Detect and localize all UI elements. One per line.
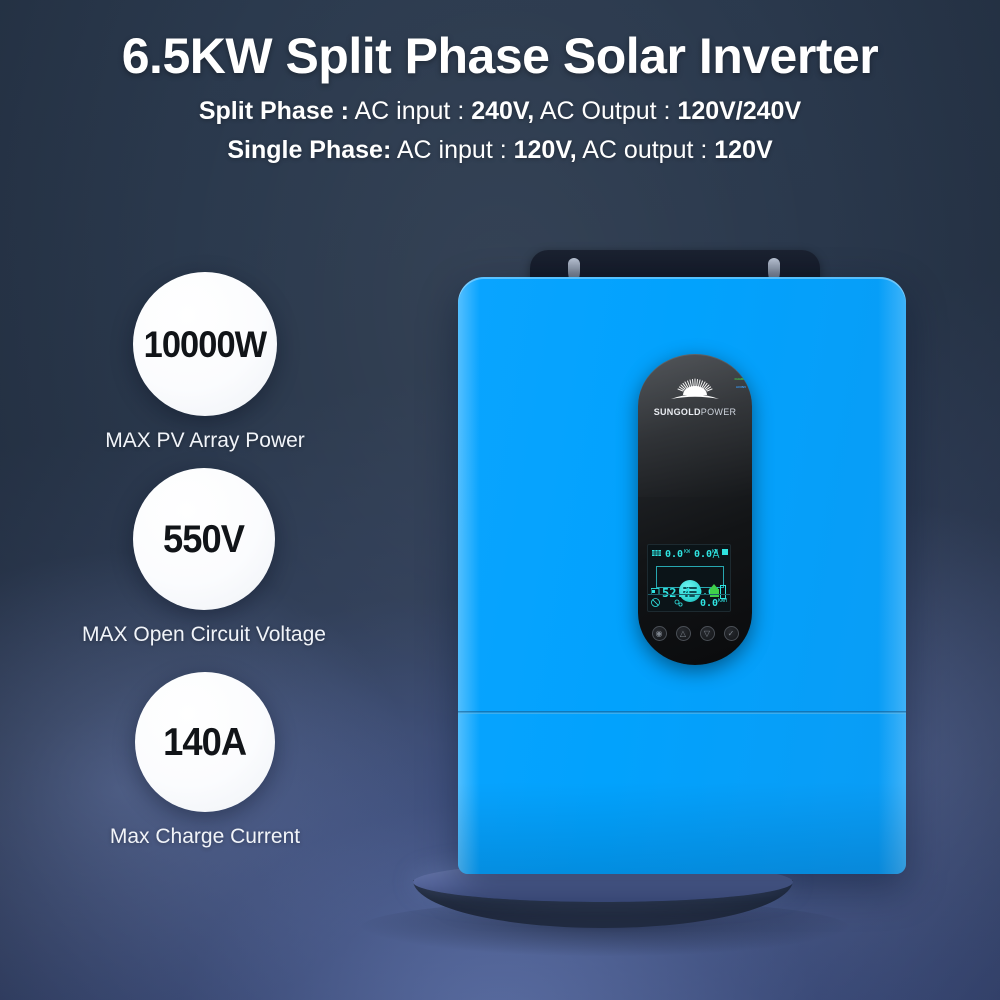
split-phase-output-value: 120V/240V	[677, 97, 801, 125]
feature-label: MAX PV Array Power	[50, 429, 360, 453]
brand-name-bold: SUNGOLD	[654, 407, 701, 417]
led-charge: CHARGE	[734, 377, 748, 382]
lcd-pv-power: 0.0	[665, 550, 683, 560]
feature-circle: 140A	[135, 672, 275, 812]
single-phase-output-value: 120V	[714, 136, 772, 164]
spec-line-single-phase: Single Phase: AC input : 120V, AC output…	[0, 136, 1000, 165]
sunburst-icon	[663, 376, 727, 406]
split-phase-output-label: AC Output :	[540, 97, 671, 125]
lcd-pv-unit: KW	[684, 550, 690, 555]
feature-value: 140A	[163, 723, 246, 762]
enter-button[interactable]: ✓	[724, 626, 739, 641]
feature-value: 10000W	[144, 326, 267, 363]
led-fault: FAULT	[734, 368, 748, 373]
spec-line-split-phase: Split Phase : AC input : 240V, AC Output…	[0, 97, 1000, 126]
up-button[interactable]: △	[676, 626, 691, 641]
split-phase-label: Split Phase :	[199, 97, 349, 125]
lcd-ac-power: 0.0	[694, 550, 712, 560]
single-phase-label: Single Phase:	[227, 136, 391, 164]
lcd-display[interactable]: 0.0 KW 0.0 KW	[647, 544, 731, 612]
down-button[interactable]: ▽	[700, 626, 715, 641]
feature-circle: 550V	[133, 468, 275, 610]
no-grid-icon	[651, 598, 660, 607]
control-button-row: ◉ △ ▽ ✓	[638, 626, 752, 641]
single-phase-output-label: AC output :	[582, 136, 707, 164]
lcd-bottom-value: 0.0	[700, 599, 718, 609]
led-ac-inv: AC/INV	[734, 385, 748, 390]
body-bottom-shade	[458, 782, 906, 874]
feature-label: MAX Open Circuit Voltage	[30, 623, 378, 647]
solar-panel-icon	[652, 550, 661, 558]
feature-max-charge-current: 140A Max Charge Current	[55, 672, 355, 849]
feature-value: 550V	[164, 520, 245, 559]
lcd-bottom-unit: KWH	[718, 599, 727, 604]
brand-name-light: POWER	[701, 407, 737, 417]
lcd-top-row: 0.0 KW 0.0 KW	[648, 547, 730, 562]
lcd-battery-unit: V	[686, 588, 689, 593]
body-seam	[458, 711, 906, 714]
feature-max-open-circuit-voltage: 550V MAX Open Circuit Voltage	[30, 468, 378, 647]
single-phase-input-value: 120V,	[514, 136, 577, 164]
brand-name: SUNGOLDPOWER	[638, 408, 752, 417]
feature-max-pv-power: 10000W MAX PV Array Power	[50, 272, 360, 453]
inverter-body: SUNGOLDPOWER 0.0 KW 0.0	[458, 277, 906, 874]
settings-gear-icon	[674, 599, 684, 607]
feature-circle: 10000W	[133, 272, 277, 416]
product-banner: 6.5KW Split Phase Solar Inverter Split P…	[0, 0, 1000, 1000]
control-panel-bezel: SUNGOLDPOWER 0.0 KW 0.0	[638, 354, 752, 665]
header: 6.5KW Split Phase Solar Inverter Split P…	[0, 0, 1000, 165]
split-phase-input-value: 240V,	[471, 97, 534, 125]
led-indicator-group: FAULT CHARGE AC/INV	[734, 368, 748, 394]
settings-button[interactable]: ◉	[652, 626, 667, 641]
single-phase-input-label: AC input :	[397, 136, 507, 164]
grid-tower-icon	[712, 549, 720, 558]
feature-label: Max Charge Current	[55, 825, 355, 849]
split-phase-input-label: AC input :	[354, 97, 464, 125]
page-title: 6.5KW Split Phase Solar Inverter	[0, 31, 1000, 81]
signal-icon	[722, 549, 728, 555]
lcd-bottom-row: 0.0 KWH	[648, 594, 730, 611]
